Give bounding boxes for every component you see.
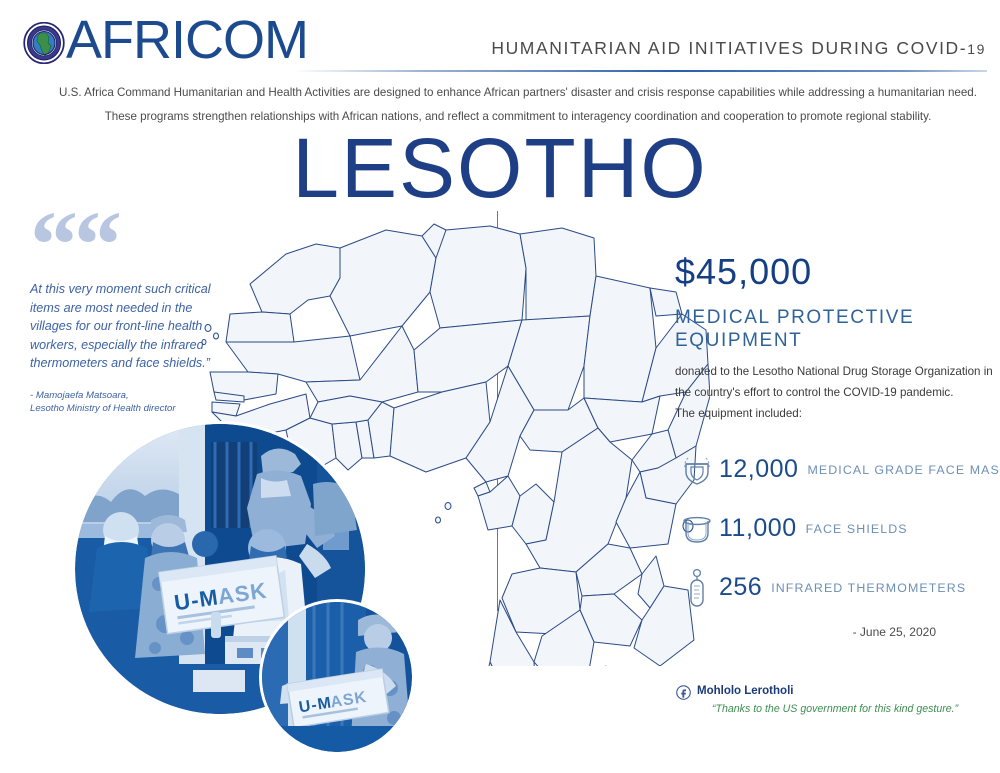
equipment-count: 12,000 (719, 455, 798, 484)
face-mask-icon (675, 452, 719, 488)
donation-description: donated to the Lesotho National Drug Sto… (675, 361, 990, 424)
list-item: 12,000 MEDICAL GRADE FACE MASKS (675, 446, 990, 493)
stats-panel: $45,000 MEDICAL PROTECTIVE EQUIPMENT don… (675, 252, 990, 639)
header-divider (293, 70, 987, 72)
page-subtitle: HUMANITARIAN AID INITIATIVES DURING COVI… (491, 38, 986, 59)
list-item: 11,000 FACE SHIELDS (675, 505, 990, 552)
social-credit-row: Mohlolo Lerotholi (676, 684, 996, 700)
equipment-count: 256 (719, 573, 762, 602)
thermometer-icon (675, 568, 719, 608)
donation-category: MEDICAL PROTECTIVE EQUIPMENT (675, 306, 990, 352)
donation-amount: $45,000 (675, 252, 990, 292)
social-credit: Mohlolo Lerotholi “Thanks to the US gove… (676, 684, 996, 716)
facebook-icon[interactable] (676, 685, 691, 700)
photo-aid-handover-inset: U-M ASK (262, 602, 412, 752)
brand-title: AFRICOM (66, 12, 308, 68)
page-subtitle-text: HUMANITARIAN AID INITIATIVES DURING COVI… (491, 38, 967, 58)
donation-category-line-2: EQUIPMENT (675, 329, 990, 352)
page-subtitle-suffix: 19 (967, 41, 986, 57)
infographic-page: AFRICOM HUMANITARIAN AID INITIATIVES DUR… (0, 0, 1000, 773)
equipment-label: INFRARED THERMOMETERS (771, 581, 966, 595)
donation-description-line-2: the country's effort to control the COVI… (675, 382, 990, 403)
social-credit-quote: “Thanks to the US government for this ki… (712, 702, 996, 716)
face-shield-icon (675, 511, 719, 547)
page-header: AFRICOM HUMANITARIAN AID INITIATIVES DUR… (0, 0, 1000, 78)
list-item: 256 INFRARED THERMOMETERS (675, 564, 990, 611)
equipment-label: FACE SHIELDS (806, 522, 908, 536)
donation-description-line-3: The equipment included: (675, 403, 990, 424)
africom-seal-icon (23, 22, 65, 64)
donation-description-line-1: donated to the Lesotho National Drug Sto… (675, 361, 990, 382)
intro-line-1: U.S. Africa Command Humanitarian and Hea… (52, 82, 984, 103)
equipment-count: 11,000 (719, 514, 797, 543)
equipment-list: 12,000 MEDICAL GRADE FACE MASKS 11,000 F… (675, 446, 990, 611)
social-credit-name: Mohlolo Lerotholi (697, 684, 793, 698)
equipment-label: MEDICAL GRADE FACE MASKS (807, 463, 1000, 477)
donation-date: - June 25, 2020 (675, 625, 990, 639)
donation-category-line-1: MEDICAL PROTECTIVE (675, 306, 990, 329)
